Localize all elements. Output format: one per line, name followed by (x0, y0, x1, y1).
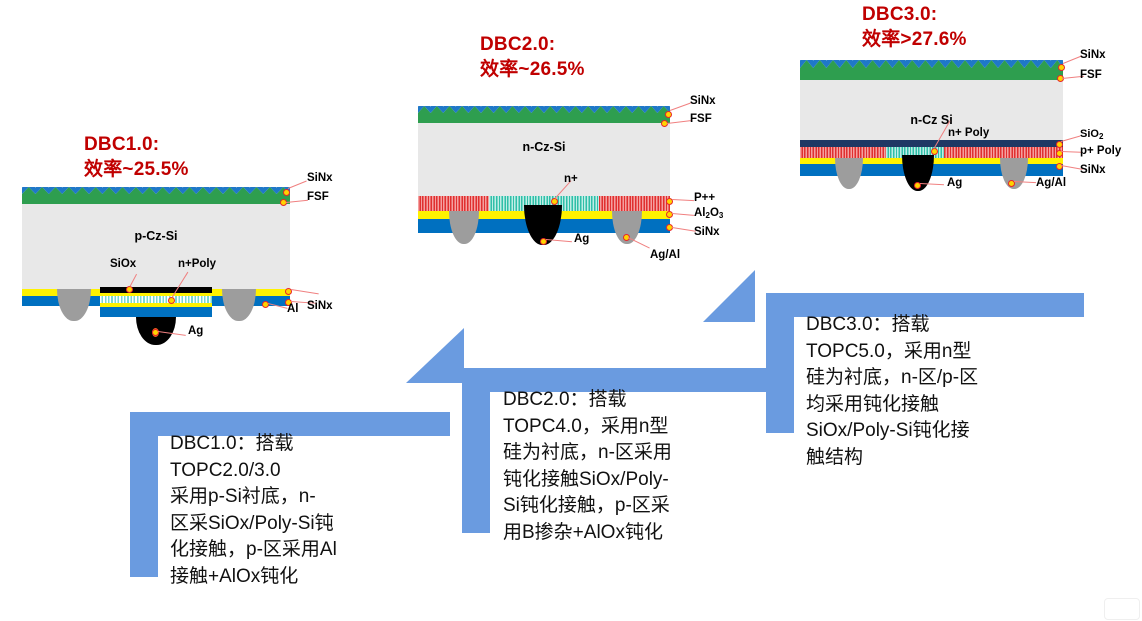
label-fsf-dbc2: FSF (690, 113, 712, 125)
arrow-dbc1-to-dbc2 (406, 328, 464, 383)
callout-dbc1-line-2: TOPC2.0/3.0 (170, 458, 470, 485)
label-sinx-rear-dbc2: SiNx (694, 226, 720, 238)
leader-sinx-dbc1 (288, 181, 307, 189)
leader-sio2-dbc3 (1061, 136, 1081, 142)
title-dbc2-line2: 效率~26.5% (480, 57, 585, 82)
callout-dbc2-line-5: Si钝化接触，p-区采 (503, 493, 803, 520)
dot-sinx-dbc2[interactable] (665, 111, 672, 118)
dot-npoly-dbc1[interactable] (168, 297, 175, 304)
corner-artifact (1104, 598, 1140, 620)
callout-dbc2-line-6: 用B掺杂+AlOx钝化 (503, 520, 803, 547)
label-sinx-dbc1: SiNx (307, 172, 333, 184)
label-agal-dbc3: Ag/Al (1036, 177, 1066, 189)
title-dbc2-line1: DBC2.0: (480, 34, 555, 55)
dot-siox-dbc1[interactable] (126, 286, 133, 293)
callout-dbc1-line-3: 采用p-Si衬底，n- (170, 484, 470, 511)
callout-dbc1-text: DBC1.0：搭载 TOPC2.0/3.0 采用p-Si衬底，n- 区采SiOx… (170, 431, 470, 591)
title-dbc1: DBC1.0: 效率~25.5% (84, 132, 189, 182)
dot-sio2-dbc3[interactable] (1056, 141, 1063, 148)
callout-dbc3-line-3: 硅为衬底，n-区/p-区 (806, 365, 1106, 392)
agal-contact-left-dbc3 (835, 158, 863, 189)
wafer-label-dbc3: n-Cz Si (800, 113, 1063, 127)
callout-dbc3-text: DBC3.0：搭载 TOPC5.0，采用n型 硅为衬底，n-区/p-区 均采用钝… (806, 312, 1106, 472)
label-al2o3-dbc2: Al2O3 (694, 207, 723, 219)
callout-dbc2-line-3: 硅为衬底，n-区采用 (503, 440, 803, 467)
dot-npoly-dbc3[interactable] (931, 148, 938, 155)
callout-dbc1-line-6: 接触+AlOx钝化 (170, 564, 470, 591)
callout-dbc1-band-left (130, 412, 158, 577)
label-siox-dbc1: SiOx (110, 258, 136, 270)
callout-dbc2-line-1: DBC2.0：搭载 (503, 387, 803, 414)
label-sinx-rear-dbc3: SiNx (1080, 164, 1106, 176)
slide-canvas: { "slide": { "background": "#ffffff", "a… (0, 0, 1142, 621)
al-contact-left-dbc1 (57, 289, 91, 321)
wafer-body-dbc2 (418, 117, 670, 196)
leader-sinx2-dbc1 (291, 289, 319, 294)
dot-nplus-dbc2[interactable] (551, 198, 558, 205)
dot-sinx-dbc1[interactable] (283, 189, 290, 196)
label-pplus-dbc2: P++ (694, 192, 715, 204)
wafer-label-dbc1: p-Cz-Si (22, 229, 290, 243)
callout-dbc2-band-left (462, 368, 490, 533)
front-texture-dbc1 (22, 187, 290, 204)
leader-sinx-dbc3 (1063, 56, 1082, 64)
callout-dbc3-line-6: 触结构 (806, 445, 1106, 472)
label-sinx-dbc3: SiNx (1080, 49, 1106, 61)
title-dbc3: DBC3.0: 效率>27.6% (862, 2, 967, 52)
leader-ppoly-dbc3 (1061, 151, 1081, 153)
label-fsf-dbc3: FSF (1080, 69, 1102, 81)
leader-sinx-dbc2 (670, 103, 691, 111)
title-dbc1-line2: 效率~25.5% (84, 157, 189, 182)
leader-fsf-dbc2 (667, 120, 691, 124)
callout-dbc2-line-4: 钝化接触SiOx/Poly- (503, 467, 803, 494)
label-sinx-dbc2: SiNx (690, 95, 716, 107)
leader-pplus-dbc2 (672, 199, 694, 201)
label-agal-dbc2: Ag/Al (650, 249, 680, 261)
wafer-label-dbc2: n-Cz-Si (418, 140, 670, 154)
front-texture-dbc3 (800, 60, 1063, 80)
callout-dbc3-line-4: 均采用钝化接触 (806, 392, 1106, 419)
label-ag-dbc3: Ag (947, 177, 962, 189)
wafer-body-dbc3 (800, 75, 1063, 140)
arrow-dbc2-to-dbc3 (703, 270, 755, 322)
title-dbc2: DBC2.0: 效率~26.5% (480, 32, 585, 82)
callout-dbc2-text: DBC2.0：搭载 TOPC4.0，采用n型 硅为衬底，n-区采用 钝化接触Si… (503, 387, 803, 547)
leader-sinx-rear-dbc2 (672, 227, 696, 232)
leader-al2o3-dbc2 (672, 213, 694, 216)
label-sinx-rear-dbc1: SiNx (307, 300, 333, 312)
label-ag-dbc1: Ag (188, 325, 203, 337)
label-nplus-dbc2: n+ (564, 173, 578, 185)
callout-dbc3-line-1: DBC3.0：搭载 (806, 312, 1106, 339)
front-texture-dbc2 (418, 106, 670, 123)
title-dbc3-line2: 效率>27.6% (862, 27, 967, 52)
dot-sinx-dbc3[interactable] (1058, 64, 1065, 71)
wafer-body-dbc1 (22, 198, 290, 289)
callout-dbc2-line-2: TOPC4.0，采用n型 (503, 414, 803, 441)
label-fsf-dbc1: FSF (307, 191, 329, 203)
label-npoly-dbc1: n+Poly (178, 258, 216, 270)
label-ag-dbc2: Ag (574, 233, 589, 245)
label-sio2-dbc3: SiO2 (1080, 128, 1103, 140)
callout-dbc1-line-4: 区采SiOx/Poly-Si钝 (170, 511, 470, 538)
callout-dbc1-line-5: 化接触，p-区采用Al (170, 537, 470, 564)
dot-sinx-rear-dbc3[interactable] (1056, 163, 1063, 170)
label-npoly-dbc3: n+ Poly (948, 127, 989, 139)
label-al-dbc1: Al (287, 303, 299, 315)
al-contact-right-dbc1 (222, 289, 256, 321)
callout-dbc3-line-5: SiOx/Poly-Si钝化接 (806, 418, 1106, 445)
label-ppoly-dbc3: p+ Poly (1080, 145, 1121, 157)
agal-contact-left-dbc2 (449, 211, 479, 244)
callout-dbc3-band-left (766, 293, 794, 433)
poly-sinx-dbc1 (100, 307, 212, 317)
sio2-layer-dbc3 (800, 140, 1063, 147)
title-dbc3-line1: DBC3.0: (862, 4, 937, 25)
callout-dbc1-line-1: DBC1.0：搭载 (170, 431, 470, 458)
callout-dbc3-line-2: TOPC5.0，采用n型 (806, 339, 1106, 366)
poly-yellow-top-dbc1 (100, 293, 212, 296)
title-dbc1-line1: DBC1.0: (84, 134, 159, 155)
